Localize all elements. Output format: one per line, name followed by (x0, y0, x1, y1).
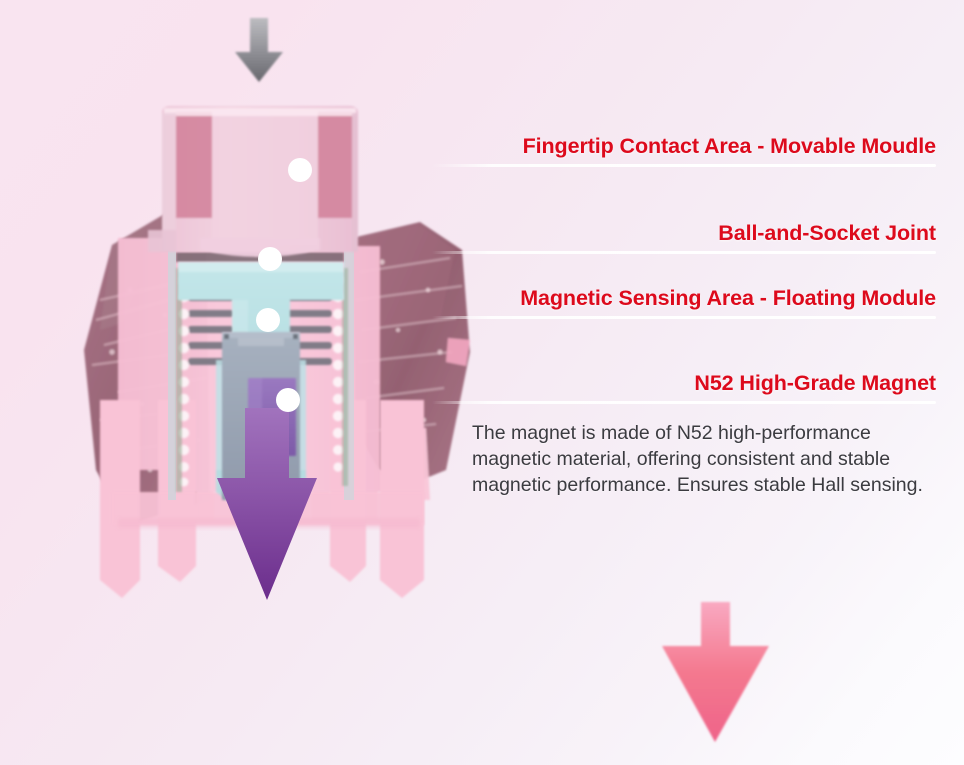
callout-dot-fingertip-contact-area (288, 158, 312, 182)
movable-stem-module (148, 106, 358, 257)
callout-underline (432, 401, 936, 404)
callout-title: Magnetic Sensing Area - Floating Module (432, 287, 936, 310)
callout-title: Ball-and-Socket Joint (432, 222, 936, 245)
callout-underline (432, 164, 936, 167)
callout-n52-high-grade-magnet: N52 High-Grade Magnet (432, 372, 936, 404)
callout-body-n52-high-grade-magnet: The magnet is made of N52 high-performan… (472, 421, 942, 499)
callout-title: N52 High-Grade Magnet (432, 372, 936, 395)
press-force-arrow (235, 18, 283, 82)
callout-dot-magnetic-sensing-area (256, 308, 280, 332)
callout-underline (432, 316, 936, 319)
output-signal-arrow (662, 602, 769, 742)
callout-title: Fingertip Contact Area - Movable Moudle (432, 135, 936, 158)
callout-underline (432, 251, 936, 254)
callout-dot-ball-and-socket-joint (258, 247, 282, 271)
callout-fingertip-contact-area: Fingertip Contact Area - Movable Moudle (432, 135, 936, 167)
callout-dot-n52-high-grade-magnet (276, 388, 300, 412)
callout-ball-and-socket-joint: Ball-and-Socket Joint (432, 222, 936, 254)
callout-magnetic-sensing-area: Magnetic Sensing Area - Floating Module (432, 287, 936, 319)
